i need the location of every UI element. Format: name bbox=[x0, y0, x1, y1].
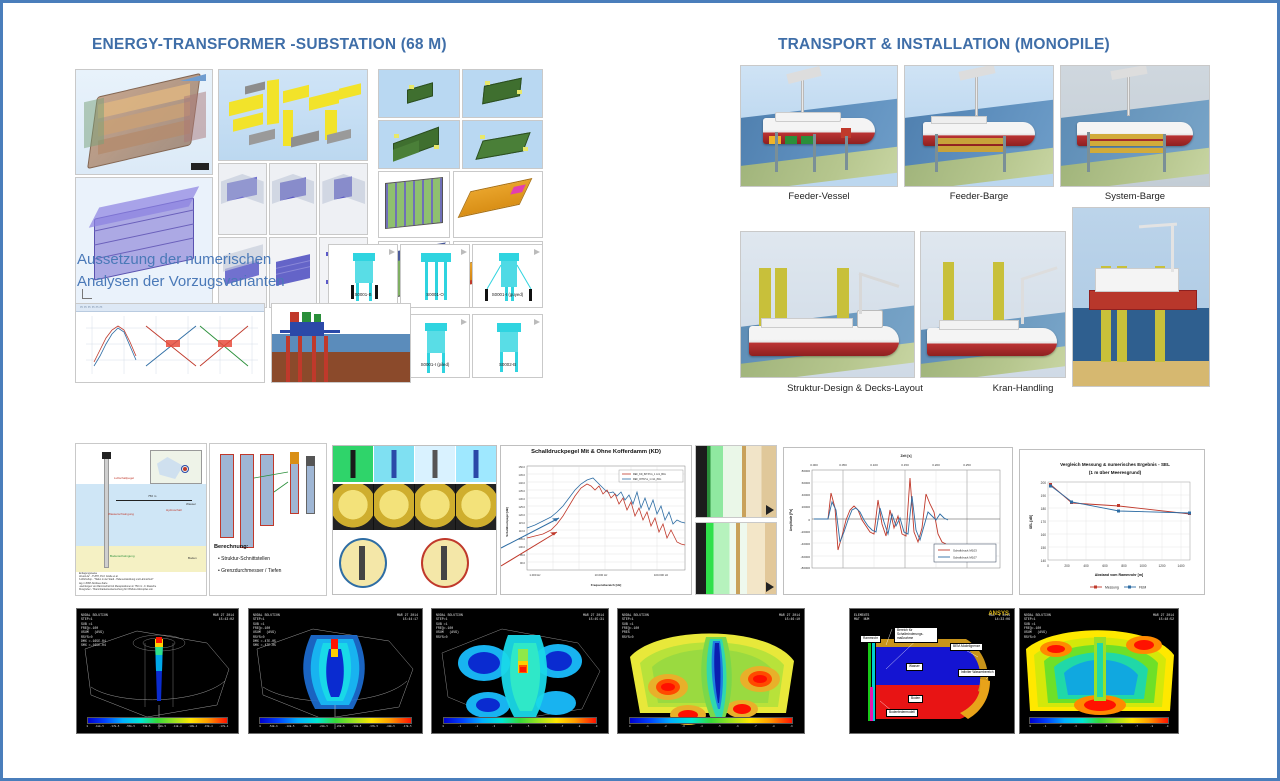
fem-colorbar bbox=[259, 717, 411, 724]
variant-thumb[interactable] bbox=[328, 244, 398, 308]
platform-view-grid bbox=[378, 69, 543, 169]
transport-group: Feeder-Vessel Feeder-Barge System-Barge bbox=[740, 65, 1210, 405]
svg-text:60000: 60000 bbox=[802, 481, 811, 485]
chart-vergleich-sel[interactable]: Vergleich Messung & numerisches Ergebnis… bbox=[1019, 449, 1205, 595]
parameter-study-chart[interactable]: ▭ ▭ ▭ ▭ ▭ ▭ bbox=[75, 303, 265, 383]
svg-text:160: 160 bbox=[1041, 533, 1047, 537]
variant-icon bbox=[401, 315, 470, 378]
svg-text:125.0: 125.0 bbox=[519, 505, 526, 509]
svg-text:150: 150 bbox=[1041, 546, 1047, 550]
model-label: Rammrohr bbox=[860, 635, 881, 643]
svg-text:1000: 1000 bbox=[1139, 564, 1146, 568]
model-label: BEM-Modellgrenze bbox=[950, 643, 983, 651]
substation-caption: Aussetzung der numerischen Analysen der … bbox=[77, 249, 337, 293]
svg-text:(1 m über Meeresgrund): (1 m über Meeresgrund) bbox=[1089, 470, 1142, 475]
platform-view[interactable] bbox=[378, 120, 460, 169]
transport-caption: Kran-Handling bbox=[968, 383, 1078, 394]
fem-geometry bbox=[618, 609, 805, 734]
system-barge-render[interactable] bbox=[1060, 65, 1210, 187]
svg-text:0: 0 bbox=[1047, 564, 1049, 568]
model-label: Bereich für Schallminderungs- maßnahme bbox=[894, 627, 938, 643]
svg-text:400: 400 bbox=[1083, 564, 1089, 568]
fem-result-6[interactable]: NODAL SOLUTION STEP=1 SUB =1 FREQ=.100 U… bbox=[1019, 608, 1179, 734]
page-title-left: ENERGY-TRANSFORMER -SUBSTATION (68 M) bbox=[92, 36, 447, 54]
svg-text:-80000: -80000 bbox=[801, 566, 811, 570]
variant-thumb[interactable] bbox=[472, 314, 543, 378]
fem-geometry bbox=[1020, 609, 1179, 734]
chart-title: Schalldruckpegel Mit & Ohne Kofferdamm (… bbox=[501, 449, 691, 456]
svg-text:FEM: FEM bbox=[1139, 585, 1146, 589]
noise-propagation-schema[interactable]: Luftschallpegel Wasserschwingung Hydrosc… bbox=[75, 443, 207, 596]
svg-text:40000: 40000 bbox=[802, 493, 811, 497]
fem-result-2[interactable]: NODAL SOLUTION STEP=1 SUB =1 FREQ=.100 U… bbox=[248, 608, 423, 734]
svg-text:100.0: 100.0 bbox=[519, 545, 526, 549]
svg-text:REF_INT37xx_1 m/1_80m: REF_INT37xx_1 m/1_80m bbox=[633, 478, 661, 481]
schema-label: Boden bbox=[186, 556, 199, 562]
svg-text:Abstand vom Rammrohr [m]: Abstand vom Rammrohr [m] bbox=[1095, 573, 1144, 577]
berechnung-bullet: • Grenzdurchmesser / Tiefen bbox=[218, 568, 281, 574]
svg-text:Frequenzbereich [Hz]: Frequenzbereich [Hz] bbox=[591, 583, 622, 587]
chart-zeitsignal[interactable]: 0.0000.0500.100 0.1500.2000.250 80000600… bbox=[783, 447, 1013, 595]
svg-text:0.150: 0.150 bbox=[901, 463, 909, 467]
schema-label: Wasserschwingung bbox=[106, 512, 136, 518]
svg-text:200: 200 bbox=[1041, 481, 1047, 485]
variant-icon bbox=[473, 245, 543, 308]
svg-text:REF_KD_INT37xx_1 m/1_80m: REF_KD_INT37xx_1 m/1_80m bbox=[633, 473, 666, 476]
svg-text:100.000 Hz: 100.000 Hz bbox=[654, 573, 669, 577]
chart-plot: 0.0000.0500.100 0.1500.2000.250 80000600… bbox=[784, 448, 1014, 596]
schema-footnotes: Entlagungsweise dnvsol.de" - TUHH, Prof.… bbox=[79, 572, 203, 591]
svg-text:Schalldruck M107: Schalldruck M107 bbox=[953, 555, 977, 559]
platform-view[interactable] bbox=[462, 69, 544, 118]
fem-model-annotated[interactable]: ELEMENTS MAT NUM MAR 1 2014 14:33:06 ANS… bbox=[849, 608, 1015, 734]
svg-text:180: 180 bbox=[1041, 507, 1047, 511]
schema-label: Hydroschall bbox=[164, 508, 184, 514]
page-frame: ENERGY-TRANSFORMER -SUBSTATION (68 M) TR… bbox=[0, 0, 1280, 781]
fem-colorbar bbox=[443, 717, 598, 724]
berechnung-heading: Berechnung: bbox=[214, 544, 249, 550]
svg-text:Schalldruck M103: Schalldruck M103 bbox=[953, 548, 977, 552]
variant-label: S0001-B bbox=[328, 292, 398, 297]
fem-colorbar bbox=[629, 717, 793, 724]
soil-section-sketch[interactable] bbox=[271, 303, 411, 383]
svg-text:150.0: 150.0 bbox=[519, 465, 526, 469]
svg-text:90.0: 90.0 bbox=[520, 561, 526, 565]
fem-geometry bbox=[432, 609, 609, 734]
fem-result-3[interactable]: NODAL SOLUTION STEP=1 SUB =1 FREQ=.100 U… bbox=[431, 608, 609, 734]
svg-text:130.0: 130.0 bbox=[519, 497, 526, 501]
feeder-barge-render[interactable] bbox=[904, 65, 1054, 187]
svg-text:1400: 1400 bbox=[1177, 564, 1184, 568]
svg-text:140: 140 bbox=[1041, 559, 1047, 563]
fe-study-cell[interactable] bbox=[269, 163, 318, 235]
svg-text:600: 600 bbox=[1102, 564, 1108, 568]
feeder-vessel-render[interactable] bbox=[740, 65, 898, 187]
model-label: Boden bbox=[908, 695, 923, 703]
svg-text:80000: 80000 bbox=[802, 469, 811, 473]
caption-line-1: Aussetzung der numerischen bbox=[77, 249, 337, 271]
fem-colorbar-ticks: 0.52E-6.10E-5.16E-5.21E-5 .26E-5.31E-5.3… bbox=[259, 725, 411, 732]
fem-colorbar bbox=[1029, 717, 1168, 724]
svg-text:0.050: 0.050 bbox=[839, 463, 847, 467]
variant-label: S0002-B bbox=[472, 362, 543, 367]
fem-colourmap-strip bbox=[695, 445, 777, 595]
svg-text:0: 0 bbox=[808, 518, 810, 522]
svg-text:0.000: 0.000 bbox=[810, 463, 818, 467]
fem-colorbar-ticks: 0.18E-5.37E-5.55E-5.73E-5 .92E-5.11E-4.1… bbox=[87, 725, 229, 732]
chart-schalldruckpegel[interactable]: Schalldruckpegel Mit & Ohne Kofferdamm (… bbox=[500, 445, 692, 595]
transport-caption: Struktur-Design & Decks-Layout bbox=[740, 383, 970, 394]
variant-icon bbox=[473, 315, 543, 378]
svg-text:Schalldruckpegel [dB]: Schalldruckpegel [dB] bbox=[505, 507, 509, 537]
svg-text:145.0: 145.0 bbox=[519, 473, 526, 477]
fem-colorbar-ticks: 0.1.2.3.4 .5.6.7.8.9 bbox=[443, 725, 598, 732]
schema-label: Wasser bbox=[184, 502, 198, 508]
svg-text:140.0: 140.0 bbox=[519, 481, 526, 485]
svg-text:0.100: 0.100 bbox=[870, 463, 878, 467]
variant-icon bbox=[401, 245, 470, 308]
page-title-right: TRANSPORT & INSTALLATION (MONOPILE) bbox=[778, 36, 1110, 54]
struktur-design-render[interactable] bbox=[740, 231, 915, 378]
berechnung-panel[interactable]: Berechnung: • Struktur-Schnittstellen • … bbox=[209, 443, 327, 596]
transport-caption: Feeder-Vessel bbox=[740, 191, 898, 202]
svg-text:1.000 Hz: 1.000 Hz bbox=[529, 573, 541, 577]
fe-study-cell[interactable] bbox=[319, 163, 368, 235]
svg-text:Zeit [s]: Zeit [s] bbox=[900, 454, 911, 458]
svg-text:115.0: 115.0 bbox=[519, 521, 526, 525]
svg-text:-20000: -20000 bbox=[801, 530, 811, 534]
transport-caption: Feeder-Barge bbox=[904, 191, 1054, 202]
variant-label: S0001-I (guyed) bbox=[472, 292, 543, 297]
chart-plot: 150.0145.0140.0 135.0130.0125.0 120.0115… bbox=[501, 462, 693, 594]
svg-text:95.0: 95.0 bbox=[520, 553, 526, 557]
berechnung-bullet: • Struktur-Schnittstellen bbox=[218, 556, 270, 562]
schema-label: Bodenschwingung bbox=[108, 554, 137, 560]
variant-thumb[interactable] bbox=[400, 244, 470, 308]
svg-text:SEL [dB]: SEL [dB] bbox=[1029, 515, 1033, 529]
kran-handling-render[interactable] bbox=[920, 231, 1066, 378]
svg-text:10.000 Hz: 10.000 Hz bbox=[595, 573, 608, 577]
fem-colorbar-ticks: 0.1.2.3.4 .5.6.7.8.9 bbox=[629, 725, 793, 732]
transport-caption: System-Barge bbox=[1060, 191, 1210, 202]
svg-text:110.0: 110.0 bbox=[519, 529, 526, 533]
fem-result-4[interactable]: NODAL SOLUTION STEP=1 SUB =1 FREQ=.100 P… bbox=[617, 608, 805, 734]
svg-text:Vergleich Messung & numerische: Vergleich Messung & numerisches Ergebnis… bbox=[1060, 462, 1170, 467]
schema-label: 750 m bbox=[146, 494, 158, 500]
svg-text:120.0: 120.0 bbox=[519, 513, 526, 517]
deck-plate-model[interactable] bbox=[453, 171, 543, 238]
platform-view[interactable] bbox=[462, 120, 544, 169]
module-explosion-render[interactable] bbox=[218, 69, 368, 161]
svg-text:0.200: 0.200 bbox=[932, 463, 940, 467]
svg-text:-40000: -40000 bbox=[801, 542, 811, 546]
fem-result-1[interactable]: NODAL SOLUTION STEP=1 SUB =1 FREQ=.100 U… bbox=[76, 608, 239, 734]
svg-text:0.250: 0.250 bbox=[963, 463, 971, 467]
fem-geometry bbox=[77, 609, 239, 734]
fem-geometry bbox=[249, 609, 423, 734]
svg-text:Amplitude [Pa]: Amplitude [Pa] bbox=[789, 509, 793, 532]
substation-model-render[interactable] bbox=[75, 69, 213, 175]
chart-lines bbox=[76, 312, 265, 383]
svg-text:20000: 20000 bbox=[802, 505, 811, 509]
model-label: Wasser bbox=[906, 663, 923, 671]
svg-text:-60000: -60000 bbox=[801, 555, 811, 559]
model-label: Bodenfedermodell bbox=[886, 709, 918, 717]
acoustic-model-strip[interactable] bbox=[332, 445, 497, 595]
svg-text:1200: 1200 bbox=[1158, 564, 1165, 568]
platform-view[interactable] bbox=[378, 69, 460, 118]
variant-label: S0001-O bbox=[400, 292, 470, 297]
model-label: Infiniter Wasserbereich bbox=[958, 669, 996, 677]
fem-colorbar-ticks: 0.1.2.3.4 .5.6.7.8.9 bbox=[1029, 725, 1168, 732]
svg-text:200: 200 bbox=[1064, 564, 1070, 568]
caption-line-2: Analysen der Vorzugsvarianten bbox=[77, 271, 337, 293]
variant-thumb[interactable] bbox=[472, 244, 543, 308]
fe-study-cell[interactable] bbox=[218, 163, 267, 235]
schema-label: Luftschallpegel bbox=[112, 476, 136, 482]
svg-text:170: 170 bbox=[1041, 520, 1047, 524]
chart-plot: Vergleich Messung & numerisches Ergebnis… bbox=[1020, 450, 1206, 596]
fem-colorbar bbox=[87, 717, 229, 724]
svg-text:190: 190 bbox=[1041, 494, 1047, 498]
svg-text:Messung: Messung bbox=[1105, 585, 1119, 589]
variant-icon bbox=[329, 245, 398, 308]
fem-colourmap[interactable] bbox=[695, 522, 777, 595]
fem-colourmap[interactable] bbox=[695, 445, 777, 518]
svg-text:105.0: 105.0 bbox=[519, 537, 526, 541]
installation-render[interactable] bbox=[1072, 207, 1210, 387]
svg-text:800: 800 bbox=[1121, 564, 1127, 568]
mesh-model[interactable] bbox=[378, 171, 450, 238]
svg-text:135.0: 135.0 bbox=[519, 489, 526, 493]
